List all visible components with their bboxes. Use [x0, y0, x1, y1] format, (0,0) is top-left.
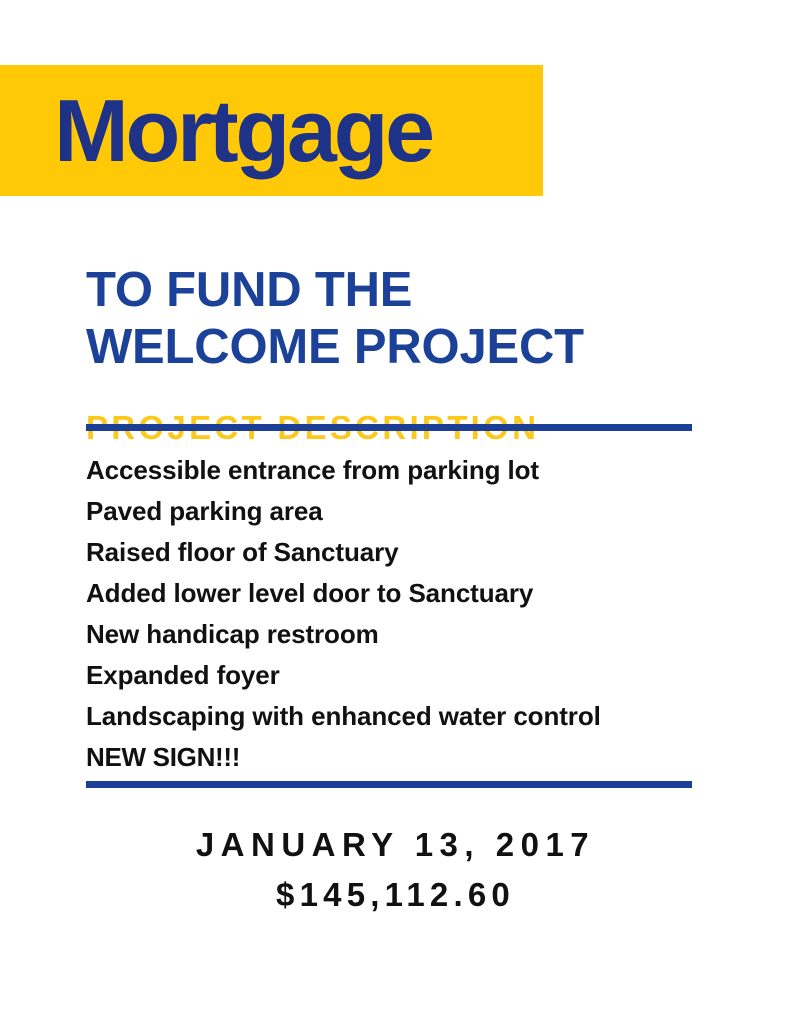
footer-amount: $145,112.60 [0, 872, 791, 918]
divider-rule-bottom [86, 781, 692, 788]
list-item: Accessible entrance from parking lot [86, 450, 746, 491]
page-title: TO FUND THE WELCOME PROJECT [86, 262, 746, 376]
list-item: Landscaping with enhanced water control [86, 696, 746, 737]
list-item: Added lower level door to Sanctuary [86, 573, 746, 614]
list-item: Expanded foyer [86, 655, 746, 696]
list-item: Raised floor of Sanctuary [86, 532, 746, 573]
divider-rule-top [86, 424, 692, 431]
logo-banner: Mortgage [0, 65, 543, 196]
project-description-list: Accessible entrance from parking lot Pav… [86, 450, 746, 778]
footer-date: JANUARY 13, 2017 [0, 822, 791, 868]
footer-block: JANUARY 13, 2017 $145,112.60 [0, 822, 791, 918]
list-item: NEW SIGN!!! [86, 737, 746, 778]
list-item: Paved parking area [86, 491, 746, 532]
logo-wordmark: Mortgage [54, 87, 432, 175]
flyer-page: Mortgage TO FUND THE WELCOME PROJECT PRO… [0, 0, 791, 1024]
list-item: New handicap restroom [86, 614, 746, 655]
